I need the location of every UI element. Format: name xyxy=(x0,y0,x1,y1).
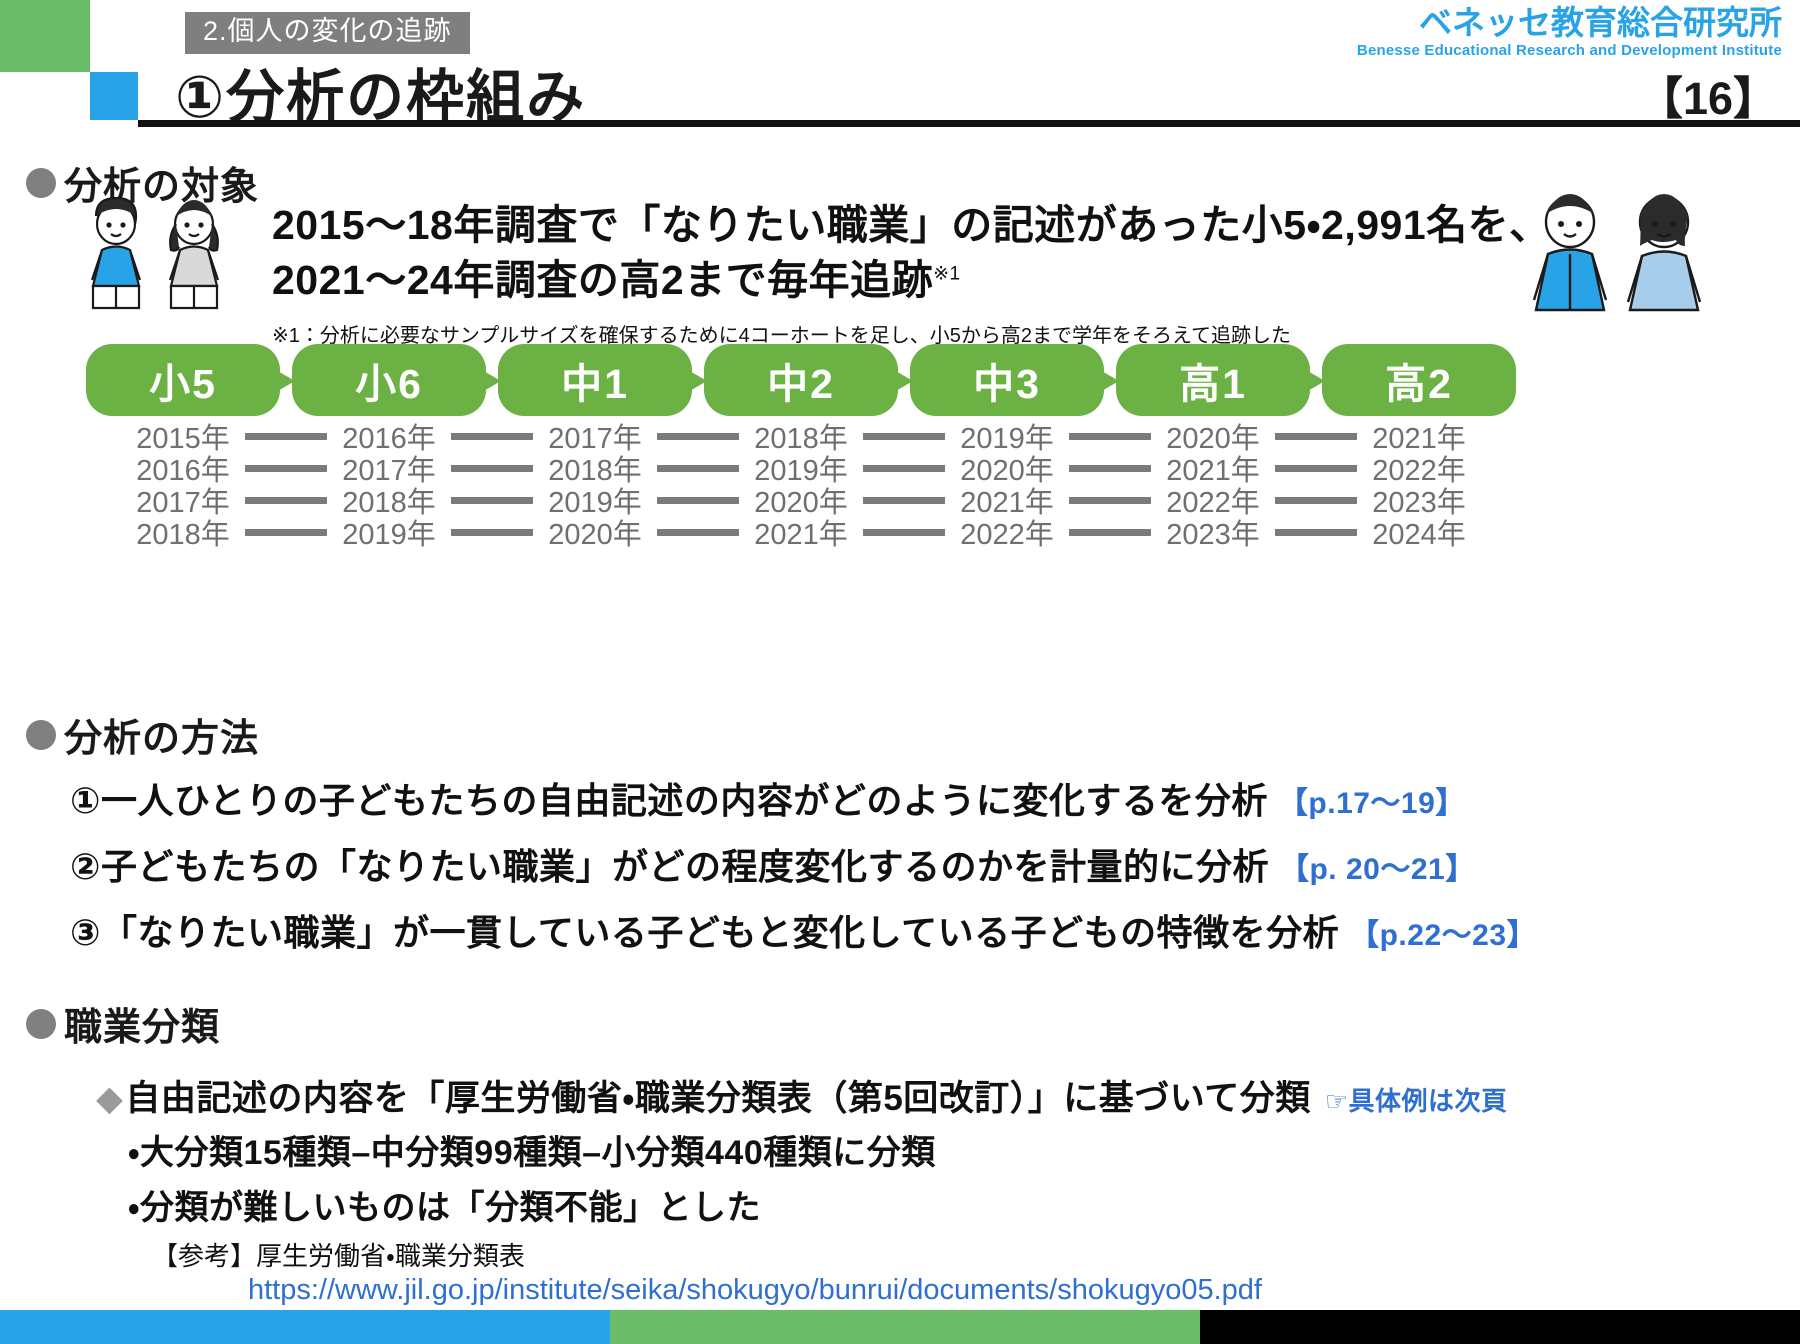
year-connector xyxy=(863,465,945,472)
year-cell: 2021年 xyxy=(754,511,848,553)
method-page-ref: 【p.17〜19】 xyxy=(1278,787,1466,820)
slide-root: 2.個人の変化の追跡 ①分析の枠組み ベネッセ教育総合研究所 Benesse E… xyxy=(0,0,1800,1344)
occupation-sub-line-2: ・分類が難しいものは「分類不能」とした xyxy=(128,1180,761,1229)
footer-bar-blue xyxy=(0,1310,610,1344)
year-connector xyxy=(863,529,945,536)
grade-box: 高1 xyxy=(1116,344,1310,416)
year-cell: 2020年 xyxy=(548,511,642,553)
section-tag: 2.個人の変化の追跡 xyxy=(185,12,470,54)
reference-url-link[interactable]: https://www.jil.go.jp/institute/seika/sh… xyxy=(248,1274,1262,1307)
year-connector xyxy=(451,529,533,536)
grade-box: 中1 xyxy=(498,344,692,416)
year-cell: 2024年 xyxy=(1372,511,1466,553)
brand-logo: ベネッセ教育総合研究所 Benesse Educational Research… xyxy=(1357,6,1782,59)
brand-name-jp: ベネッセ教育総合研究所 xyxy=(1357,6,1782,41)
kids-illustration-left xyxy=(78,190,258,315)
year-connector xyxy=(245,465,327,472)
year-connector xyxy=(245,433,327,440)
method-item: ③「なりたい職業」が一貫している子どもと変化している子どもの特徴を分析【p.22… xyxy=(70,904,1537,956)
grade-box: 小6 xyxy=(292,344,486,416)
header-decoration-blue xyxy=(90,72,138,120)
cohort-row: 2018年2019年2020年2021年2022年2023年2024年 xyxy=(86,516,1516,548)
year-connector xyxy=(451,497,533,504)
bullet-dot-icon xyxy=(26,720,56,750)
year-connector xyxy=(657,529,739,536)
year-connector xyxy=(245,529,327,536)
next-page-note: ☞具体例は次頁 xyxy=(1325,1086,1508,1116)
occupation-main-text: 自由記述の内容を「厚生労働省・職業分類表（第5回改訂）」に基づいて分類 xyxy=(125,1079,1310,1118)
grade-box: 高2 xyxy=(1322,344,1516,416)
method-page-ref: 【p. 20〜21】 xyxy=(1279,853,1476,886)
heading-label: 職業分類 xyxy=(64,996,220,1051)
method-text: ③「なりたい職業」が一貫している子どもと変化している子どもの特徴を分析 xyxy=(70,912,1339,953)
year-connector xyxy=(1275,433,1357,440)
heading-occupation-classification: 職業分類 xyxy=(26,996,220,1051)
year-connector xyxy=(451,433,533,440)
year-connector xyxy=(1275,529,1357,536)
year-connector xyxy=(1275,497,1357,504)
lead-line-2: 2021〜24年調査の高2まで毎年追跡※1 xyxy=(272,253,1312,308)
year-connector xyxy=(1069,529,1151,536)
year-connector xyxy=(1069,433,1151,440)
year-connector xyxy=(657,497,739,504)
heading-analysis-method: 分析の方法 xyxy=(26,707,259,762)
bullet-dot-icon xyxy=(26,1009,56,1039)
header-divider xyxy=(138,120,1800,127)
year-connector xyxy=(657,465,739,472)
reference-label: 【参考】厚生労働省・職業分類表 xyxy=(152,1236,525,1273)
diamond-bullet-icon: ◆ xyxy=(96,1079,123,1118)
grade-chain: 小5小6中1中2中3高1高2 xyxy=(86,344,1516,416)
year-cell: 2019年 xyxy=(342,511,436,553)
lead-line-1: 2015〜18年調査で「なりたい職業」の記述があった小5・2,991名を、 xyxy=(272,198,1312,253)
year-connector xyxy=(657,433,739,440)
method-item: ①一人ひとりの子どもたちの自由記述の内容がどのように変化するを分析【p.17〜1… xyxy=(70,772,1466,824)
lead-line-2-text: 2021〜24年調査の高2まで毎年追跡 xyxy=(272,257,933,303)
bullet-dot-icon xyxy=(26,168,56,198)
year-connector xyxy=(1275,465,1357,472)
grade-box: 中3 xyxy=(910,344,1104,416)
year-connector xyxy=(245,497,327,504)
lead-description: 2015〜18年調査で「なりたい職業」の記述があった小5・2,991名を、 20… xyxy=(272,198,1312,348)
header-decoration-green xyxy=(0,0,90,72)
year-connector xyxy=(1069,497,1151,504)
year-connector xyxy=(451,465,533,472)
grade-box: 小5 xyxy=(86,344,280,416)
grade-box: 中2 xyxy=(704,344,898,416)
brand-name-en: Benesse Educational Research and Develop… xyxy=(1357,42,1782,59)
year-cell: 2023年 xyxy=(1166,511,1260,553)
cohort-year-grid: 2015年2016年2017年2018年2019年2020年2021年2016年… xyxy=(86,420,1516,548)
footer-bar-black xyxy=(1200,1310,1800,1344)
lead-footnote-marker: ※1 xyxy=(933,264,961,285)
occupation-sub-line-1: ・大分類15種類–中分類99種類–小分類440種類に分類 xyxy=(128,1125,936,1174)
footer-bar-green xyxy=(610,1310,1200,1344)
year-connector xyxy=(863,433,945,440)
page-number: 【16】 xyxy=(1638,62,1778,127)
year-cell: 2018年 xyxy=(136,511,230,553)
occupation-main-line: ◆自由記述の内容を「厚生労働省・職業分類表（第5回改訂）」に基づいて分類☞具体例… xyxy=(96,1070,1508,1121)
method-item: ②子どもたちの「なりたい職業」がどの程度変化するのかを計量的に分析【p. 20〜… xyxy=(70,838,1476,890)
heading-label: 分析の方法 xyxy=(64,707,259,762)
method-page-ref: 【p.22〜23】 xyxy=(1349,919,1537,952)
year-cell: 2022年 xyxy=(960,511,1054,553)
method-text: ②子どもたちの「なりたい職業」がどの程度変化するのかを計量的に分析 xyxy=(70,846,1269,887)
method-text: ①一人ひとりの子どもたちの自由記述の内容がどのように変化するを分析 xyxy=(70,780,1268,821)
year-connector xyxy=(1069,465,1151,472)
year-connector xyxy=(863,497,945,504)
